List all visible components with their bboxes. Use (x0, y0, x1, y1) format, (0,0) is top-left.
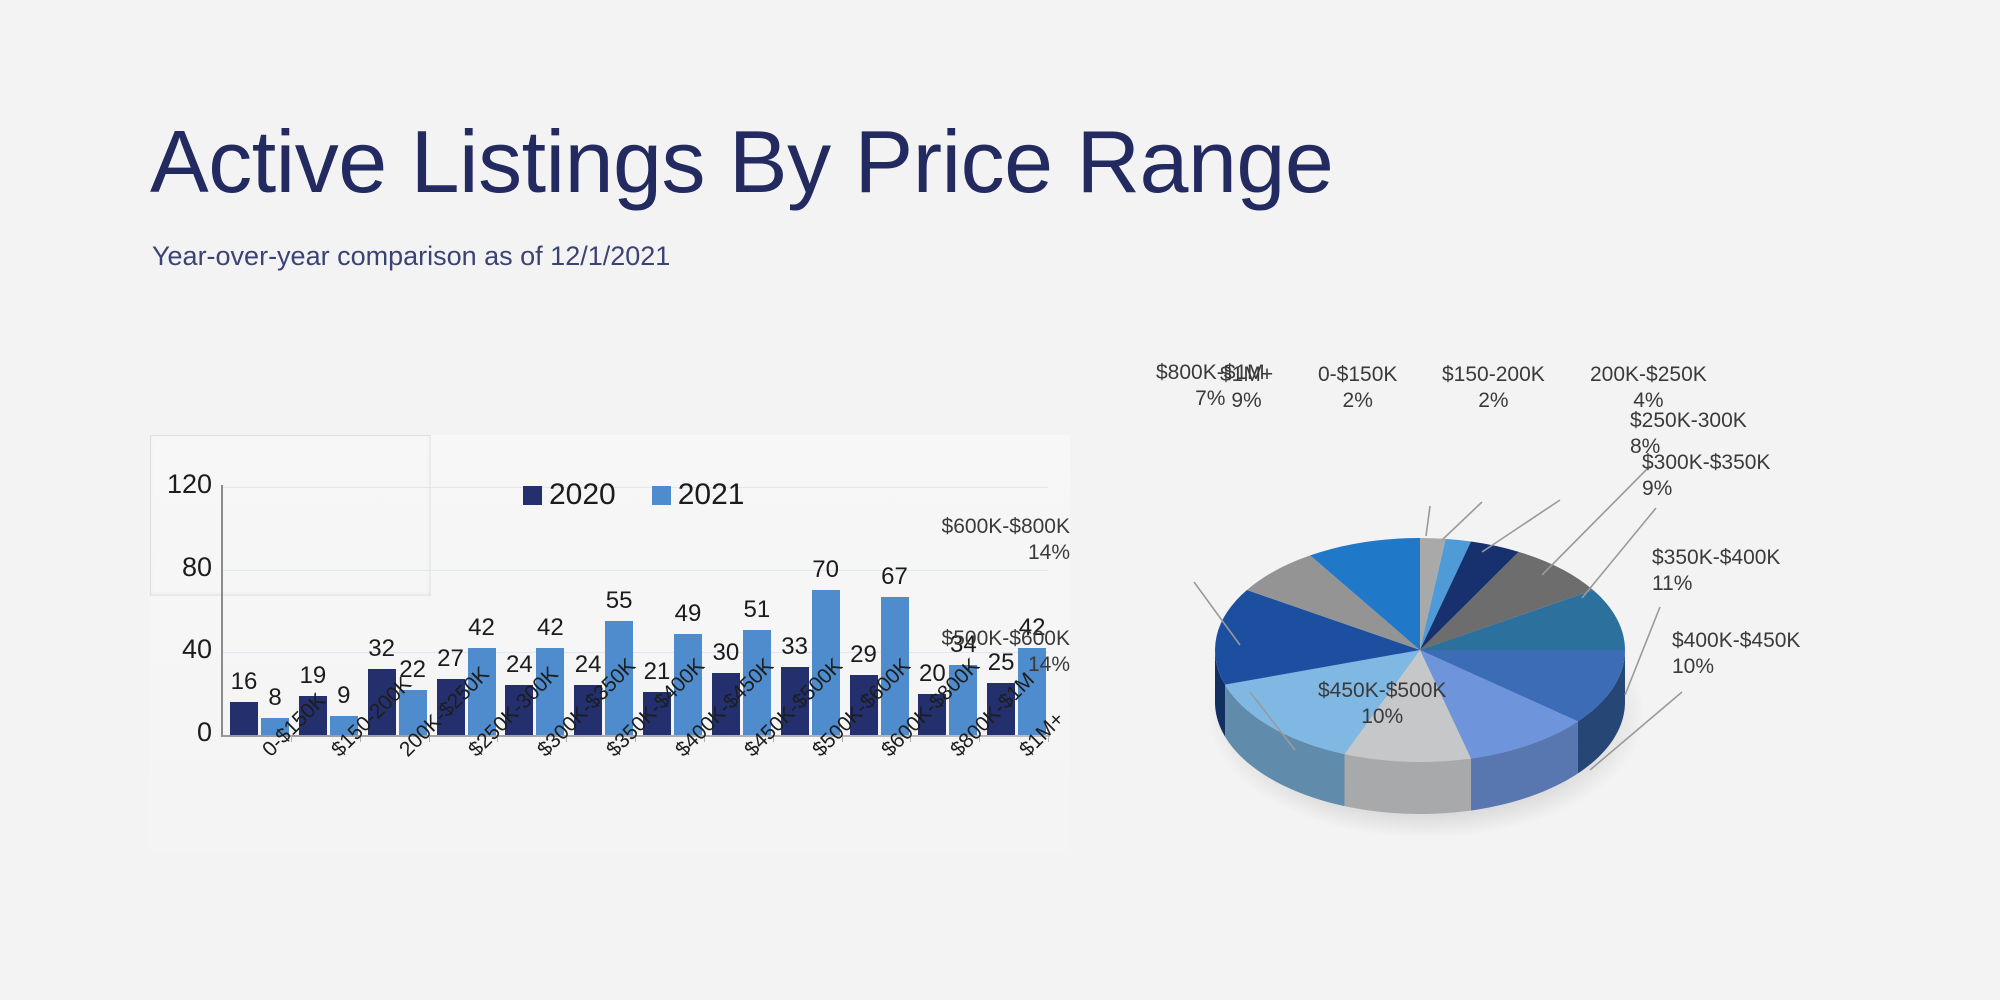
pie-label-$300K-$350K: $300K-$350K9% (1642, 450, 1770, 501)
pie-leader-line (1426, 506, 1430, 536)
y-axis-tick-label: 0 (142, 717, 212, 748)
pie-label-name: 200K-$250K (1590, 363, 1707, 386)
pie-leader-line (1442, 502, 1482, 540)
pie-leader-line (1482, 500, 1560, 552)
bar-value-label: 67 (865, 563, 925, 591)
legend-item-2020[interactable]: 2020 (523, 478, 616, 512)
pie-label-name: $350K-$400K (1652, 546, 1780, 569)
bar-value-label: 49 (658, 600, 718, 628)
bar-value-label: 51 (727, 596, 787, 624)
legend-label-2020: 2020 (549, 478, 616, 512)
pie-chart: $1M+9%0-$150K2%$150-200K2%200K-$250K4%$2… (1090, 440, 1970, 860)
bar-chart-y-axis-labels: 04080120 (140, 0, 212, 1000)
pie-label-percent: 11% (1652, 571, 1780, 597)
pie-leader-line (1582, 508, 1656, 598)
pie-label-name: $600K-$800K (942, 515, 1070, 538)
pie-chart-svg (1090, 440, 1970, 860)
bar-chart-legend: 2020 2021 (523, 478, 745, 512)
y-axis-tick-label: 40 (142, 634, 212, 665)
y-axis-tick-label: 80 (142, 552, 212, 583)
pie-label-name: 0-$150K (1318, 363, 1397, 386)
page-title: Active Listings By Price Range (150, 118, 1333, 206)
bar-value-label: 55 (589, 587, 649, 615)
pie-label-0-$150K: 0-$150K2% (1318, 362, 1397, 413)
pie-label-percent: 14% (942, 540, 1070, 566)
pie-label-$400K-$450K: $400K-$450K10% (1672, 628, 1800, 679)
legend-swatch-2021 (652, 486, 671, 505)
bar-chart-y-axis-line (221, 485, 223, 737)
bar-group[interactable]: 168 (230, 487, 292, 735)
pie-label-$150-200K: $150-200K2% (1442, 362, 1545, 413)
pie-label-name: $300K-$350K (1642, 451, 1770, 474)
pie-label-name: $500K-$600K (942, 627, 1070, 650)
pie-slice-wall (1345, 754, 1471, 814)
pie-label-$800K-$1M: $800K-$1M7% (1156, 360, 1265, 411)
pie-label-name: $150-200K (1442, 363, 1545, 386)
bar-value-label: 42 (520, 614, 580, 642)
legend-item-2021[interactable]: 2021 (652, 478, 745, 512)
pie-leader-line (1625, 607, 1660, 695)
legend-label-2021: 2021 (678, 478, 745, 512)
pie-leader-line (1542, 466, 1650, 575)
pie-label-$600K-$800K: $600K-$800K14% (942, 514, 1070, 565)
pie-label-percent: 2% (1318, 388, 1397, 414)
pie-label-percent: 2% (1442, 388, 1545, 414)
pie-label-name: $400K-$450K (1672, 629, 1800, 652)
pie-label-$450K-$500K: $450K-$500K10% (1318, 678, 1446, 729)
header: Active Listings By Price Range Year-over… (0, 0, 2000, 300)
pie-label-name: $250K-300K (1630, 409, 1747, 432)
bar-value-label: 70 (796, 556, 856, 584)
pie-label-200K-$250K: 200K-$250K4% (1590, 362, 1707, 413)
pie-label-$350K-$400K: $350K-$400K11% (1652, 545, 1780, 596)
y-axis-tick-label: 120 (142, 469, 212, 500)
pie-label-name: $450K-$500K (1318, 679, 1446, 702)
pie-label-percent: 10% (1318, 704, 1446, 730)
pie-label-percent: 9% (1642, 476, 1770, 502)
legend-swatch-2020 (523, 486, 542, 505)
bar-value-label: 42 (452, 614, 512, 642)
pie-label-name: $800K-$1M (1156, 361, 1265, 384)
pie-label-percent: 7% (1156, 386, 1265, 412)
page-subtitle: Year-over-year comparison as of 12/1/202… (152, 241, 670, 272)
pie-label-percent: 10% (1672, 654, 1800, 680)
